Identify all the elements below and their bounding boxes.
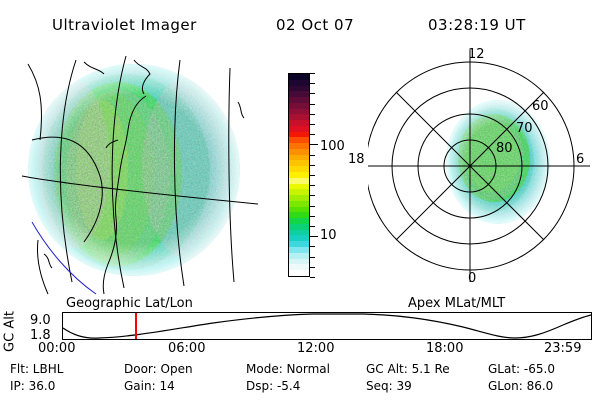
status-door: Door: Open [124, 362, 193, 376]
time-tick-0000: 00:00 [38, 342, 75, 355]
time-tick-1800: 18:00 [426, 342, 463, 355]
observation-date: 02 Oct 07 [276, 16, 354, 34]
polar-aurora-plot [368, 44, 598, 296]
mlat-label-60: 60 [532, 100, 549, 113]
status-dsp: Dsp: -5.4 [246, 379, 300, 393]
status-row-1: Flt: LBHL Door: Open Mode: Normal GC Alt… [0, 362, 600, 378]
aurora-emission-layer [28, 64, 240, 276]
status-row-2: IP: 36.0 Gain: 14 Dsp: -5.4 Seq: 39 GLon… [0, 379, 600, 395]
status-glon: GLon: 86.0 [488, 379, 553, 393]
colorbar-panel: photon cm-2s-1 100 10 [268, 60, 368, 292]
colorbar-ticks [310, 73, 318, 277]
orbit-y-tick-max: 9.0 [30, 314, 51, 327]
geographic-aurora-image [14, 44, 266, 296]
apex-polar-panel: 12 18 6 0 60 70 80 [368, 44, 598, 296]
status-seq: Seq: 39 [366, 379, 412, 393]
status-gain: Gain: 14 [124, 379, 175, 393]
status-mode: Mode: Normal [246, 362, 330, 376]
geographic-image-panel [14, 44, 266, 296]
page-title: Ultraviolet Imager [52, 16, 197, 34]
colorbar-gradient [288, 73, 310, 277]
colorbar-tick-label-10: 10 [320, 229, 337, 242]
status-ip: IP: 36.0 [10, 379, 55, 393]
mlt-label-6: 6 [576, 153, 584, 166]
time-tick-2359: 23:59 [544, 342, 581, 355]
mlat-label-80: 80 [496, 142, 513, 155]
apex-panel-caption: Apex MLat/MLT [408, 296, 505, 311]
polar-grid [368, 50, 590, 282]
header-bar: Ultraviolet Imager 02 Oct 07 03:28:19 UT [0, 8, 600, 32]
orbit-altitude-curve [63, 313, 591, 339]
orbit-plot-box [62, 312, 592, 340]
time-tick-0600: 06:00 [168, 342, 205, 355]
mlat-label-70: 70 [516, 122, 533, 135]
mlt-label-0: 0 [468, 272, 476, 285]
status-flt: Flt: LBHL [10, 362, 63, 376]
polar-emission-layer [446, 100, 550, 224]
mlt-label-18: 18 [348, 153, 365, 166]
current-time-marker [135, 313, 137, 339]
geographic-panel-caption: Geographic Lat/Lon [66, 296, 193, 311]
time-axis: 00:00 06:00 12:00 18:00 23:59 [0, 342, 600, 358]
status-block: Flt: LBHL Door: Open Mode: Normal GC Alt… [0, 362, 600, 398]
observation-time: 03:28:19 UT [428, 16, 526, 34]
status-glat: GLat: -65.0 [488, 362, 555, 376]
status-gcalt: GC Alt: 5.1 Re [366, 362, 450, 376]
mlt-label-12: 12 [468, 48, 485, 61]
orbit-altitude-strip: Geographic Lat/Lon Apex MLat/MLT GC Alt … [0, 296, 600, 354]
time-tick-1200: 12:00 [297, 342, 334, 355]
colorbar-tick-label-100: 100 [320, 140, 345, 153]
ultraviolet-imager-window: Ultraviolet Imager 02 Oct 07 03:28:19 UT [0, 0, 600, 400]
